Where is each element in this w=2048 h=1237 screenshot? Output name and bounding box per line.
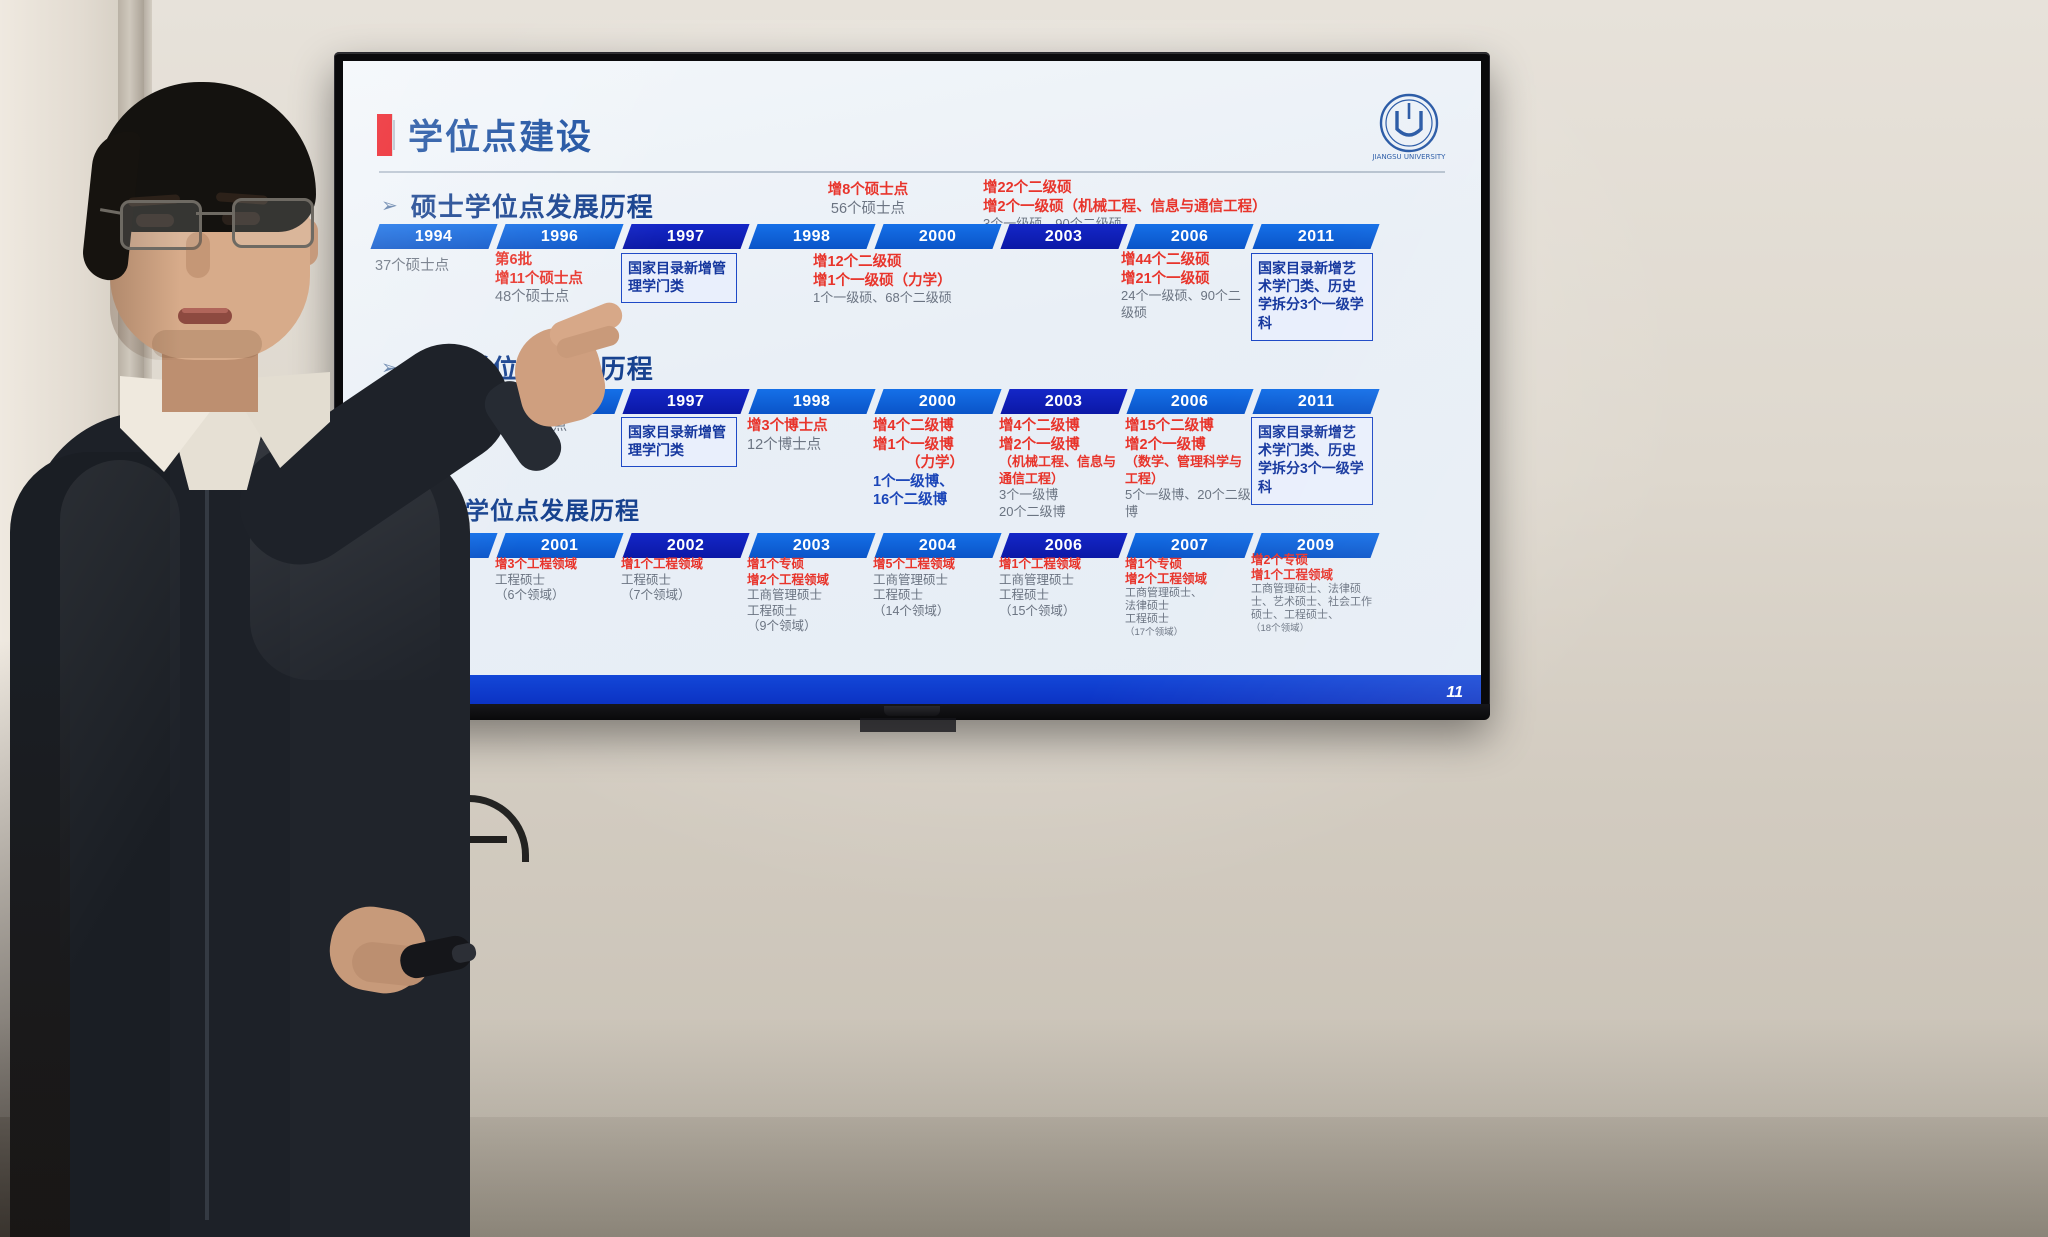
- year-chip-2011-doctor[interactable]: 2011: [1252, 389, 1379, 414]
- nose: [186, 232, 210, 278]
- cell-prof-2009: 增2个专硕 增1个工程领域 工商管理硕士、法律硕士、艺术硕士、社会工作硕士、工程…: [1251, 553, 1375, 634]
- year-chip-2006-doctor[interactable]: 2006: [1126, 389, 1253, 414]
- year-chip-2003-doctor[interactable]: 2003: [1000, 389, 1127, 414]
- cell-prof-2003: 增1个专硕 增2个工程领域 工商管理硕士 工程硕士 （9个领域）: [747, 557, 873, 635]
- lens-right: [232, 198, 314, 248]
- photo-scene: 学位点建设 JIANGSU UNIVERSITY ➢ 硕士: [0, 0, 2048, 1237]
- year-chip-2000-master[interactable]: 2000: [874, 224, 1001, 249]
- tv-wall-mount: [860, 718, 956, 732]
- page-number: 11: [1446, 684, 1463, 702]
- laser-pointer-tip: [450, 942, 477, 965]
- cell-prof-2004: 增5个工程领域 工商管理硕士 工程硕士 （14个领域）: [873, 557, 999, 619]
- note-master-8: 增8个硕士点 56个硕士点: [763, 181, 973, 218]
- cell-prof-2006: 增1个工程领域 工商管理硕士 工程硕士 （15个领域）: [999, 557, 1125, 619]
- university-logo-icon: JIANGSU UNIVERSITY: [1367, 89, 1451, 167]
- upper-lip: [182, 308, 228, 313]
- year-chip-2003-master[interactable]: 2003: [1000, 224, 1127, 249]
- glasses-bridge: [196, 212, 234, 215]
- box-master-2011: 国家目录新增艺术学门类、历史学拆分3个一级学科: [1251, 253, 1373, 341]
- cell-doctor-1998: 增3个博士点 12个博士点: [747, 417, 873, 454]
- box-doctor-2011: 国家目录新增艺术学门类、历史学拆分3个一级学科: [1251, 417, 1373, 505]
- year-chip-1997-doctor[interactable]: 1997: [622, 389, 749, 414]
- cell-prof-2002: 增1个工程领域 工程硕士 （7个领域）: [621, 557, 747, 604]
- cell-master-2000: 增12个二级硕 增1个一级硕（力学） 1个一级硕、68个二级硕: [813, 253, 1023, 307]
- year-chip-2004-prof[interactable]: 2004: [874, 533, 1001, 558]
- chin-shadow: [152, 330, 262, 358]
- cell-prof-2007: 增1个专硕 增2个工程领域 工商管理硕士、 法律硕士 工程硕士 （17个领域）: [1125, 557, 1251, 638]
- presenter: [0, 60, 520, 1237]
- year-chip-1998-doctor[interactable]: 1998: [748, 389, 875, 414]
- jacket-zipper: [205, 460, 209, 1220]
- year-chip-2006-prof[interactable]: 2006: [1000, 533, 1127, 558]
- cell-master-2006: 增44个二级硕 增21个一级硕 24个一级硕、90个二级硕: [1121, 251, 1253, 321]
- year-chip-2006-master[interactable]: 2006: [1126, 224, 1253, 249]
- eyeglasses: [112, 196, 318, 248]
- year-chip-2007-prof[interactable]: 2007: [1126, 533, 1253, 558]
- title-divider: [379, 171, 1445, 173]
- year-chip-2003-prof[interactable]: 2003: [748, 533, 875, 558]
- svg-text:JIANGSU UNIVERSITY: JIANGSU UNIVERSITY: [1372, 153, 1447, 161]
- year-chip-1997-master[interactable]: 1997: [622, 224, 749, 249]
- year-chip-2000-doctor[interactable]: 2000: [874, 389, 1001, 414]
- year-chip-2011-master[interactable]: 2011: [1252, 224, 1379, 249]
- jacket-highlight: [60, 460, 180, 1160]
- cell-doctor-2006: 增15个二级博 增2个一级博 （数学、管理科学与工程） 5个一级博、20个二级博: [1125, 417, 1251, 521]
- year-chip-1998-master[interactable]: 1998: [748, 224, 875, 249]
- left-vignette: [0, 640, 70, 1237]
- cell-doctor-2000: 增4个二级博 增1个一级博 （力学） 1个一级博、 16个二级博: [873, 417, 997, 510]
- tv-brand-logo: [884, 706, 940, 716]
- year-chip-2002-prof[interactable]: 2002: [622, 533, 749, 558]
- box-doctor-1997: 国家目录新增管理学门类: [621, 417, 737, 467]
- cell-doctor-2003: 增4个二级博 增2个一级博 （机械工程、信息与通信工程） 3个一级博 20个二级…: [999, 417, 1125, 521]
- box-master-1997: 国家目录新增管理学门类: [621, 253, 737, 303]
